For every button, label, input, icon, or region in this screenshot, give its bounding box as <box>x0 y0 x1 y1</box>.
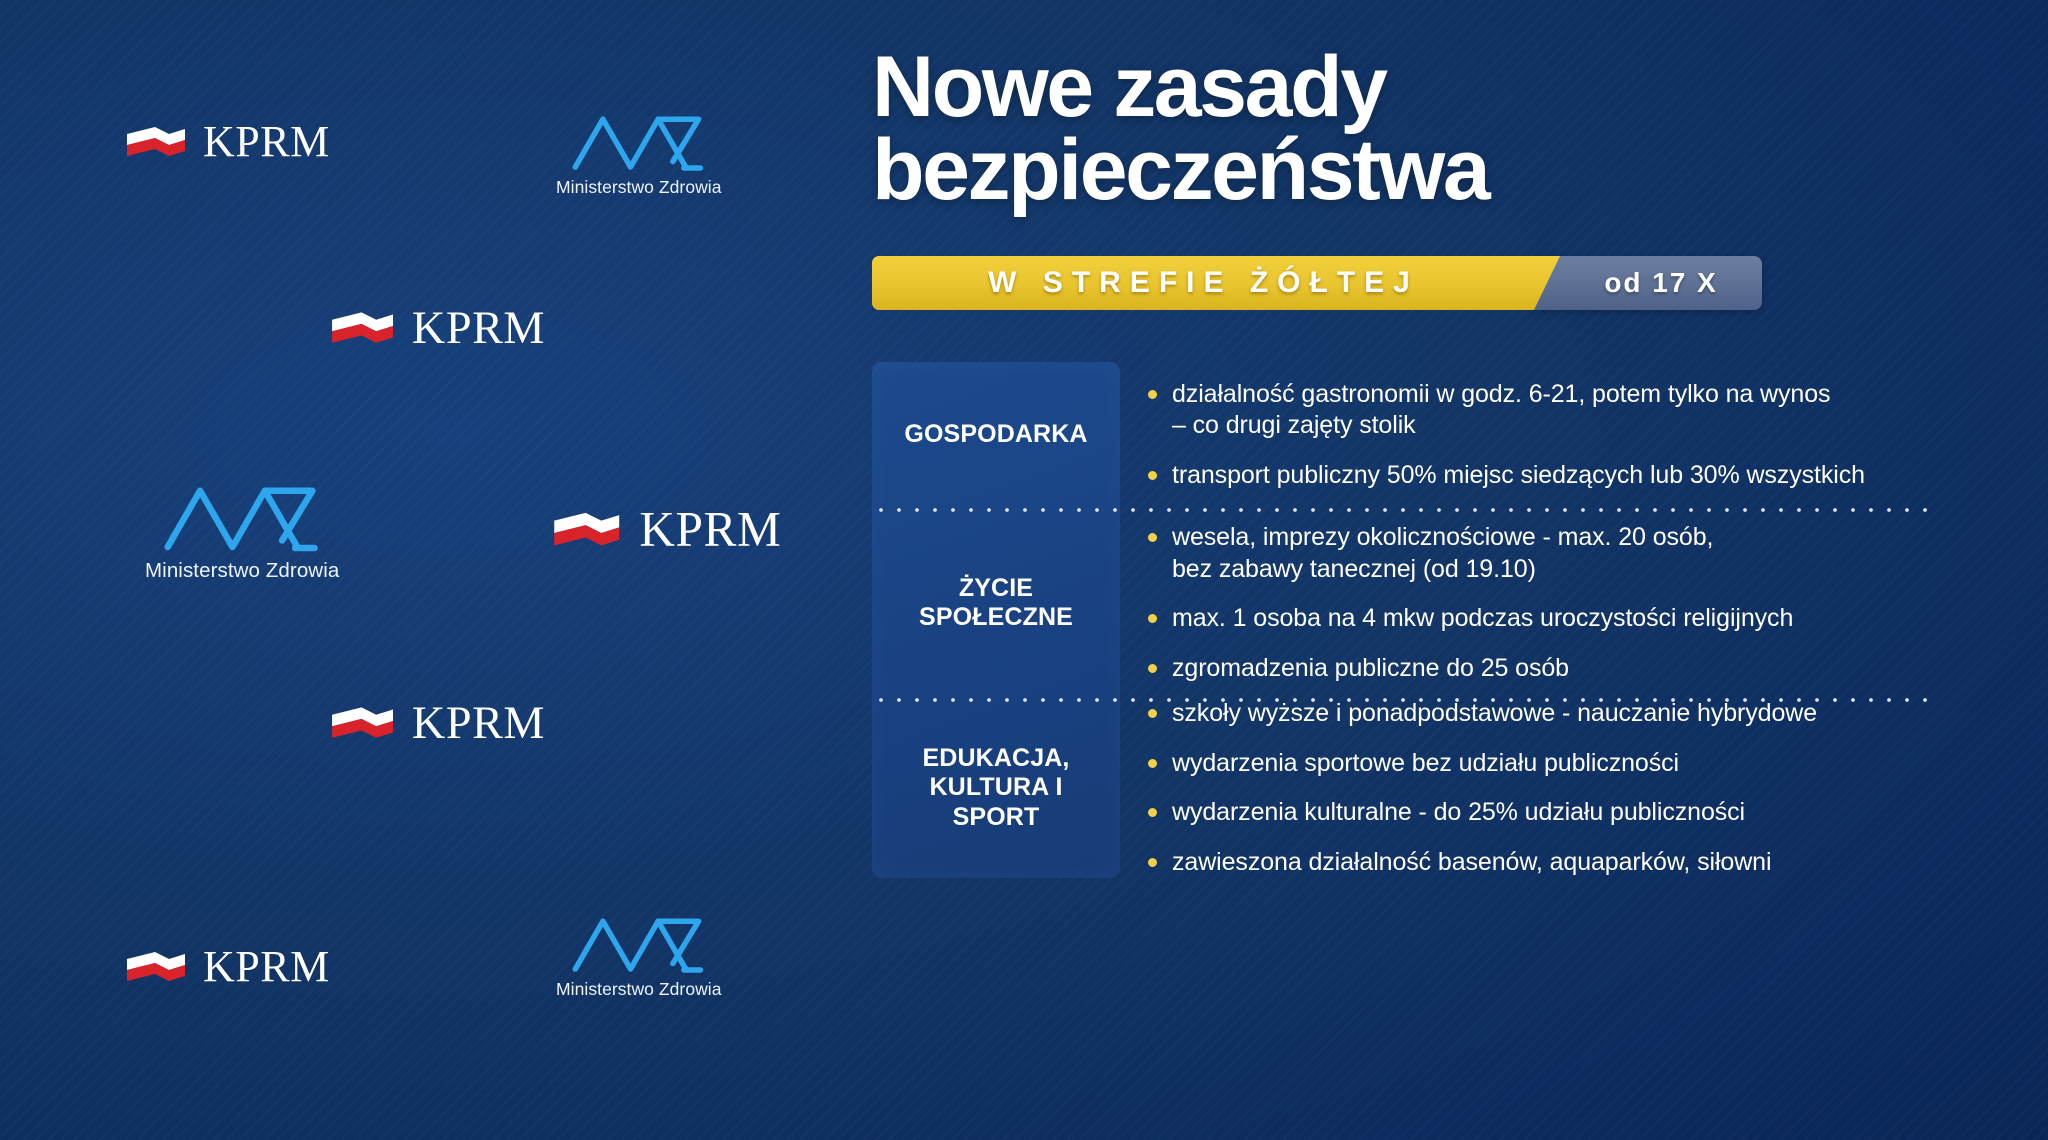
kprm-wordmark: KPRM <box>639 505 781 554</box>
bullet-dot-icon <box>1148 759 1157 768</box>
rule-bullet: max. 1 osoba na 4 mkw podczas uroczystoś… <box>1148 603 1932 635</box>
mz-label: Ministerstwo Zdrowia <box>556 178 722 198</box>
yellow-zone-strip: W STREFIE ŻÓŁTEJ <box>872 256 1560 310</box>
polish-flag-icon <box>125 125 187 159</box>
ministerstwo-zdrowia-logo: Ministerstwo Zdrowia <box>145 480 339 584</box>
rule-text: wydarzenia sportowe bez udziału publiczn… <box>1172 748 1932 780</box>
infographic-poster: KPRMMinisterstwo ZdrowiaKPRMMinisterstwo… <box>0 0 2048 1140</box>
mz-zigzag-icon <box>161 480 323 556</box>
mz-zigzag-icon <box>570 110 708 174</box>
rule-text: wydarzenia kulturalne - do 25% udziału p… <box>1172 797 1932 829</box>
content-column: Nowe zasady bezpieczeństwa od 17 X W STR… <box>872 0 1932 1140</box>
ministerstwo-zdrowia-logo: Ministerstwo Zdrowia <box>556 110 722 198</box>
bullet-dot-icon <box>1148 709 1157 718</box>
polish-flag-icon <box>330 705 395 741</box>
kprm-wordmark: KPRM <box>203 120 330 164</box>
page-title: Nowe zasady bezpieczeństwa <box>872 46 1932 213</box>
rule-bullet: wydarzenia kulturalne - do 25% udziału p… <box>1148 797 1932 829</box>
rule-row: EDUKACJA, KULTURA I SPORTszkoły wyższe i… <box>872 698 1932 878</box>
ministerstwo-zdrowia-logo: Ministerstwo Zdrowia <box>556 912 722 1000</box>
category-cell: GOSPODARKA <box>872 362 1120 508</box>
rule-bullet: wesela, imprezy okolicznościowe - max. 2… <box>1148 522 1932 585</box>
rule-bullet: wydarzenia sportowe bez udziału publiczn… <box>1148 748 1932 780</box>
kprm-logo: KPRM <box>330 305 545 351</box>
kprm-logo: KPRM <box>125 120 330 164</box>
rule-text: wesela, imprezy okolicznościowe - max. 2… <box>1172 522 1932 585</box>
mz-label: Ministerstwo Zdrowia <box>556 980 722 1000</box>
date-badge-label: od 17 X <box>1604 267 1717 299</box>
bullet-dot-icon <box>1148 614 1157 623</box>
rule-bullet: szkoły wyższe i ponadpodstawowe - naucza… <box>1148 698 1932 730</box>
rule-text: zawieszona działalność basenów, aquapark… <box>1172 847 1932 879</box>
rules-table: GOSPODARKAdziałalność gastronomii w godz… <box>872 362 1932 878</box>
rule-text: transport publiczny 50% miejsc siedzącyc… <box>1172 460 1932 492</box>
polish-flag-icon <box>552 511 621 549</box>
title-line-1: Nowe zasady <box>872 39 1386 135</box>
title-line-2: bezpieczeństwa <box>872 129 1932 212</box>
polish-flag-icon <box>330 310 395 346</box>
category-label: GOSPODARKA <box>904 420 1087 450</box>
category-label: EDUKACJA, KULTURA I SPORT <box>886 744 1106 833</box>
rules-rows: GOSPODARKAdziałalność gastronomii w godz… <box>872 362 1932 878</box>
kprm-wordmark: KPRM <box>412 700 545 746</box>
rule-bullet: zgromadzenia publiczne do 25 osób <box>1148 653 1932 685</box>
bullet-dot-icon <box>1148 858 1157 867</box>
bullet-dot-icon <box>1148 808 1157 817</box>
kprm-wordmark: KPRM <box>203 945 330 989</box>
kprm-logo: KPRM <box>552 505 781 554</box>
rule-items: działalność gastronomii w godz. 6-21, po… <box>1120 362 1932 508</box>
bullet-dot-icon <box>1148 471 1157 480</box>
zone-label: W STREFIE ŻÓŁTEJ <box>872 256 1526 310</box>
category-cell: ŻYCIE SPOŁECZNE <box>872 508 1120 698</box>
kprm-logo: KPRM <box>125 945 330 989</box>
rule-text: max. 1 osoba na 4 mkw podczas uroczystoś… <box>1172 603 1932 635</box>
kprm-logo: KPRM <box>330 700 545 746</box>
rule-bullet: zawieszona działalność basenów, aquapark… <box>1148 847 1932 879</box>
rule-bullet: działalność gastronomii w godz. 6-21, po… <box>1148 379 1932 442</box>
rule-items: szkoły wyższe i ponadpodstawowe - naucza… <box>1120 698 1932 878</box>
category-cell: EDUKACJA, KULTURA I SPORT <box>872 698 1120 878</box>
bullet-dot-icon <box>1148 390 1157 399</box>
rule-bullet: transport publiczny 50% miejsc siedzącyc… <box>1148 460 1932 492</box>
rule-row: GOSPODARKAdziałalność gastronomii w godz… <box>872 362 1932 508</box>
date-badge: od 17 X <box>1534 256 1762 310</box>
mz-zigzag-icon <box>570 912 708 976</box>
zone-banner: od 17 X W STREFIE ŻÓŁTEJ <box>872 256 1932 310</box>
rule-text: działalność gastronomii w godz. 6-21, po… <box>1172 379 1932 442</box>
bullet-dot-icon <box>1148 533 1157 542</box>
kprm-wordmark: KPRM <box>412 305 545 351</box>
rule-text: zgromadzenia publiczne do 25 osób <box>1172 653 1932 685</box>
rule-text: szkoły wyższe i ponadpodstawowe - naucza… <box>1172 698 1932 730</box>
category-label: ŻYCIE SPOŁECZNE <box>919 574 1073 633</box>
bullet-dot-icon <box>1148 664 1157 673</box>
rule-row: ŻYCIE SPOŁECZNEwesela, imprezy okoliczno… <box>872 508 1932 698</box>
rule-items: wesela, imprezy okolicznościowe - max. 2… <box>1120 508 1932 698</box>
mz-label: Ministerstwo Zdrowia <box>145 560 339 584</box>
polish-flag-icon <box>125 950 187 984</box>
